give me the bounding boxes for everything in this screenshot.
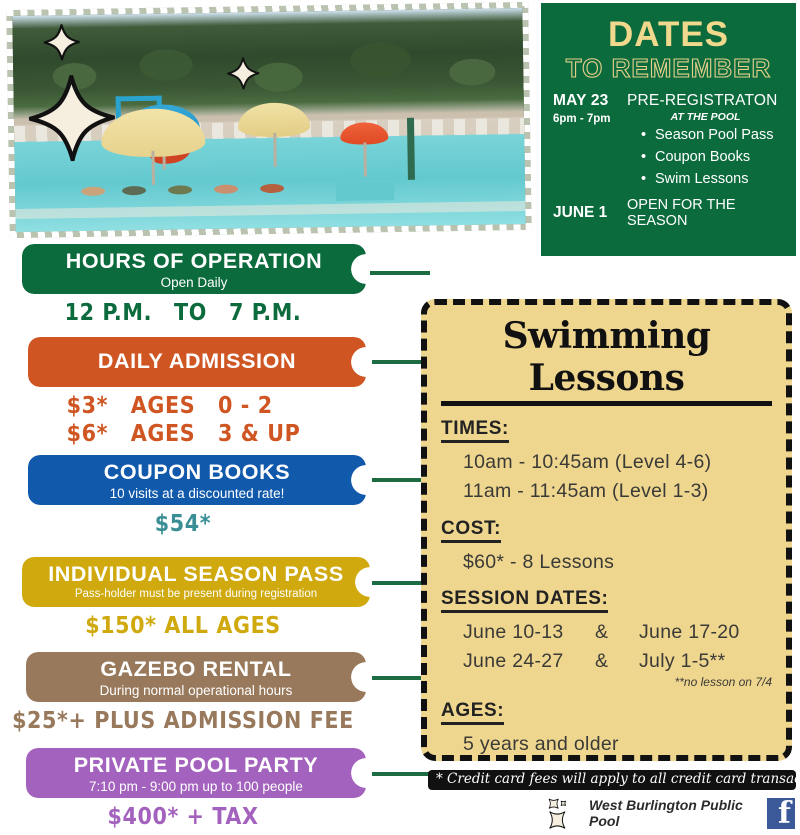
- brand-name: West Burlington Public Pool: [589, 797, 759, 829]
- session-amp: &: [595, 647, 639, 676]
- price-coupon-books: $54*: [0, 511, 366, 537]
- entry-note: AT THE POOL: [627, 111, 784, 123]
- pool-photo: [12, 8, 525, 232]
- price-value: $25*+ PLUS ADMISSION FEE: [12, 708, 354, 734]
- price-daily-admission: $3* AGES 0 - 2 $6* AGES 3 & UP: [0, 393, 366, 447]
- pill-subtitle: During normal operational hours: [26, 682, 366, 700]
- yellow-umbrella-2: [238, 102, 311, 137]
- facebook-icon[interactable]: [767, 798, 795, 829]
- connector-line: [372, 772, 432, 776]
- section-individual-season-pass: INDIVIDUAL SEASON PASS Pass-holder must …: [0, 557, 400, 641]
- pill-title: GAZEBO RENTAL: [26, 657, 366, 682]
- times-label: TIMES:: [441, 418, 509, 443]
- sparkle-icon: [227, 58, 259, 90]
- cost-label: COST:: [441, 518, 501, 543]
- connector-line: [370, 271, 430, 275]
- session-note: **no lesson on 7/4: [441, 675, 772, 689]
- price-label: AGES: [130, 393, 196, 419]
- session-dates-label: SESSION DATES:: [441, 588, 608, 613]
- price-ages: 0 - 2: [218, 393, 310, 419]
- section-hours-of-operation: HOURS OF OPERATION Open Daily 12 P.M. TO…: [0, 244, 400, 328]
- entry-heading: PRE-REGISTRATON: [627, 92, 784, 110]
- entry-body: PRE-REGISTRATON AT THE POOL Season Pool …: [627, 92, 784, 190]
- entry-heading: OPEN FOR THE SEASON: [627, 197, 784, 229]
- ages-label: AGES:: [441, 700, 504, 725]
- session-row: June 10-13 & June 17-20: [441, 618, 772, 647]
- price-value: $6*: [56, 421, 108, 447]
- yellow-umbrella-1: [101, 108, 206, 158]
- session-amp: &: [595, 618, 639, 647]
- price-value: 12 P.M.: [65, 300, 152, 326]
- price-value: $54*: [155, 511, 211, 537]
- lessons-heading: Swimming Lessons: [441, 315, 772, 406]
- entry-date-block: MAY 23 6pm - 7pm: [553, 92, 627, 190]
- price-label: TO: [174, 300, 207, 326]
- lessons-times-group: TIMES: 10am - 10:45am (Level 4-6) 11am -…: [441, 418, 772, 507]
- session-b: July 1-5**: [639, 647, 725, 676]
- pill-subtitle: Open Daily: [22, 274, 366, 292]
- lily-pad: [260, 184, 284, 193]
- session-row: June 24-27 & July 1-5**: [441, 647, 772, 676]
- list-item: Coupon Books: [641, 147, 784, 169]
- lily-pad: [214, 185, 238, 194]
- section-coupon-books: COUPON BOOKS 10 visits at a discounted r…: [0, 455, 400, 539]
- sparkle-icon: [545, 791, 585, 835]
- pill-subtitle: 10 visits at a discounted rate!: [28, 485, 366, 503]
- session-a: June 10-13: [463, 618, 595, 647]
- list-item: Swim Lessons: [641, 169, 784, 191]
- price-gazebo: $25*+ PLUS ADMISSION FEE: [0, 708, 366, 734]
- entry-date: JUNE 1: [553, 204, 627, 222]
- pill-subtitle: 7:10 pm - 9:00 pm up to 100 people: [26, 778, 366, 796]
- pill-title: HOURS OF OPERATION: [22, 249, 366, 274]
- price-season-pass: $150* ALL AGES: [0, 613, 366, 639]
- session-b: June 17-20: [639, 618, 740, 647]
- lessons-cost-group: COST: $60* - 8 Lessons: [441, 518, 772, 577]
- pill-title: COUPON BOOKS: [28, 460, 366, 485]
- lessons-ages-group: AGES: 5 years and older: [441, 700, 772, 759]
- price-value: $150* ALL AGES: [85, 613, 281, 639]
- sparkle-icon: [29, 75, 116, 162]
- price-ages: 3 & UP: [218, 421, 310, 447]
- entry-date: MAY 23: [553, 92, 627, 110]
- section-gazebo-rental: GAZEBO RENTAL During normal operational …: [0, 652, 400, 736]
- entry-time: 6pm - 7pm: [553, 113, 627, 125]
- price-pool-party: $400* + TAX: [0, 804, 366, 830]
- lessons-sessions-group: SESSION DATES: June 10-13 & June 17-20 J…: [441, 588, 772, 690]
- times-value: 10am - 10:45am (Level 4-6): [441, 448, 772, 477]
- red-umbrella: [340, 122, 388, 145]
- pool-post: [407, 118, 415, 180]
- dates-subtitle: TO REMEMBER: [553, 54, 784, 83]
- lily-pad: [122, 186, 146, 195]
- pill-gazebo-rental[interactable]: GAZEBO RENTAL During normal operational …: [26, 652, 366, 702]
- ages-value: 5 years and older: [441, 730, 772, 759]
- pool-step: [336, 182, 394, 201]
- session-a: June 24-27: [463, 647, 595, 676]
- list-item: Season Pool Pass: [641, 125, 784, 147]
- pill-hours-of-operation[interactable]: HOURS OF OPERATION Open Daily: [22, 244, 366, 294]
- credit-card-note: * Credit card fees will apply to all cre…: [428, 770, 796, 790]
- pill-individual-season-pass[interactable]: INDIVIDUAL SEASON PASS Pass-holder must …: [22, 557, 370, 607]
- dates-entry-may23: MAY 23 6pm - 7pm PRE-REGISTRATON AT THE …: [553, 92, 784, 190]
- pill-daily-admission[interactable]: DAILY ADMISSION: [28, 337, 366, 387]
- price-value: $400* + TAX: [107, 804, 258, 830]
- pill-subtitle: Pass-holder must be present during regis…: [22, 587, 370, 603]
- section-private-pool-party: PRIVATE POOL PARTY 7:10 pm - 9:00 pm up …: [0, 748, 400, 832]
- times-value: 11am - 11:45am (Level 1-3): [441, 477, 772, 506]
- dates-to-remember-panel: DATES TO REMEMBER MAY 23 6pm - 7pm PRE-R…: [541, 3, 796, 256]
- price-value-2: 7 P.M.: [229, 300, 301, 326]
- pill-title: DAILY ADMISSION: [28, 349, 366, 374]
- pool-photo-frame: [6, 2, 532, 238]
- brand-footer: West Burlington Public Pool: [545, 793, 795, 833]
- pool-deck-edge: [15, 201, 525, 219]
- section-daily-admission: DAILY ADMISSION $3* AGES 0 - 2 $6* AGES …: [0, 337, 400, 449]
- lily-pad: [168, 186, 192, 195]
- pill-private-pool-party[interactable]: PRIVATE POOL PARTY 7:10 pm - 9:00 pm up …: [26, 748, 366, 798]
- dates-entry-june1: JUNE 1 OPEN FOR THE SEASON: [553, 197, 784, 229]
- price-value: $3*: [56, 393, 108, 419]
- lily-pad: [81, 187, 105, 196]
- poster-root: DATES TO REMEMBER MAY 23 6pm - 7pm PRE-R…: [0, 0, 800, 835]
- swimming-lessons-panel: Swimming Lessons TIMES: 10am - 10:45am (…: [421, 299, 792, 761]
- price-label: AGES: [130, 421, 196, 447]
- entry-item-list: Season Pool Pass Coupon Books Swim Lesso…: [641, 125, 784, 190]
- price-hours: 12 P.M. TO 7 P.M.: [0, 300, 366, 326]
- pill-title: PRIVATE POOL PARTY: [26, 753, 366, 778]
- pill-title: INDIVIDUAL SEASON PASS: [22, 562, 370, 587]
- cost-value: $60* - 8 Lessons: [441, 548, 772, 577]
- dates-title: DATES: [553, 17, 784, 54]
- sparkle-icon: [43, 24, 80, 61]
- pill-coupon-books[interactable]: COUPON BOOKS 10 visits at a discounted r…: [28, 455, 366, 505]
